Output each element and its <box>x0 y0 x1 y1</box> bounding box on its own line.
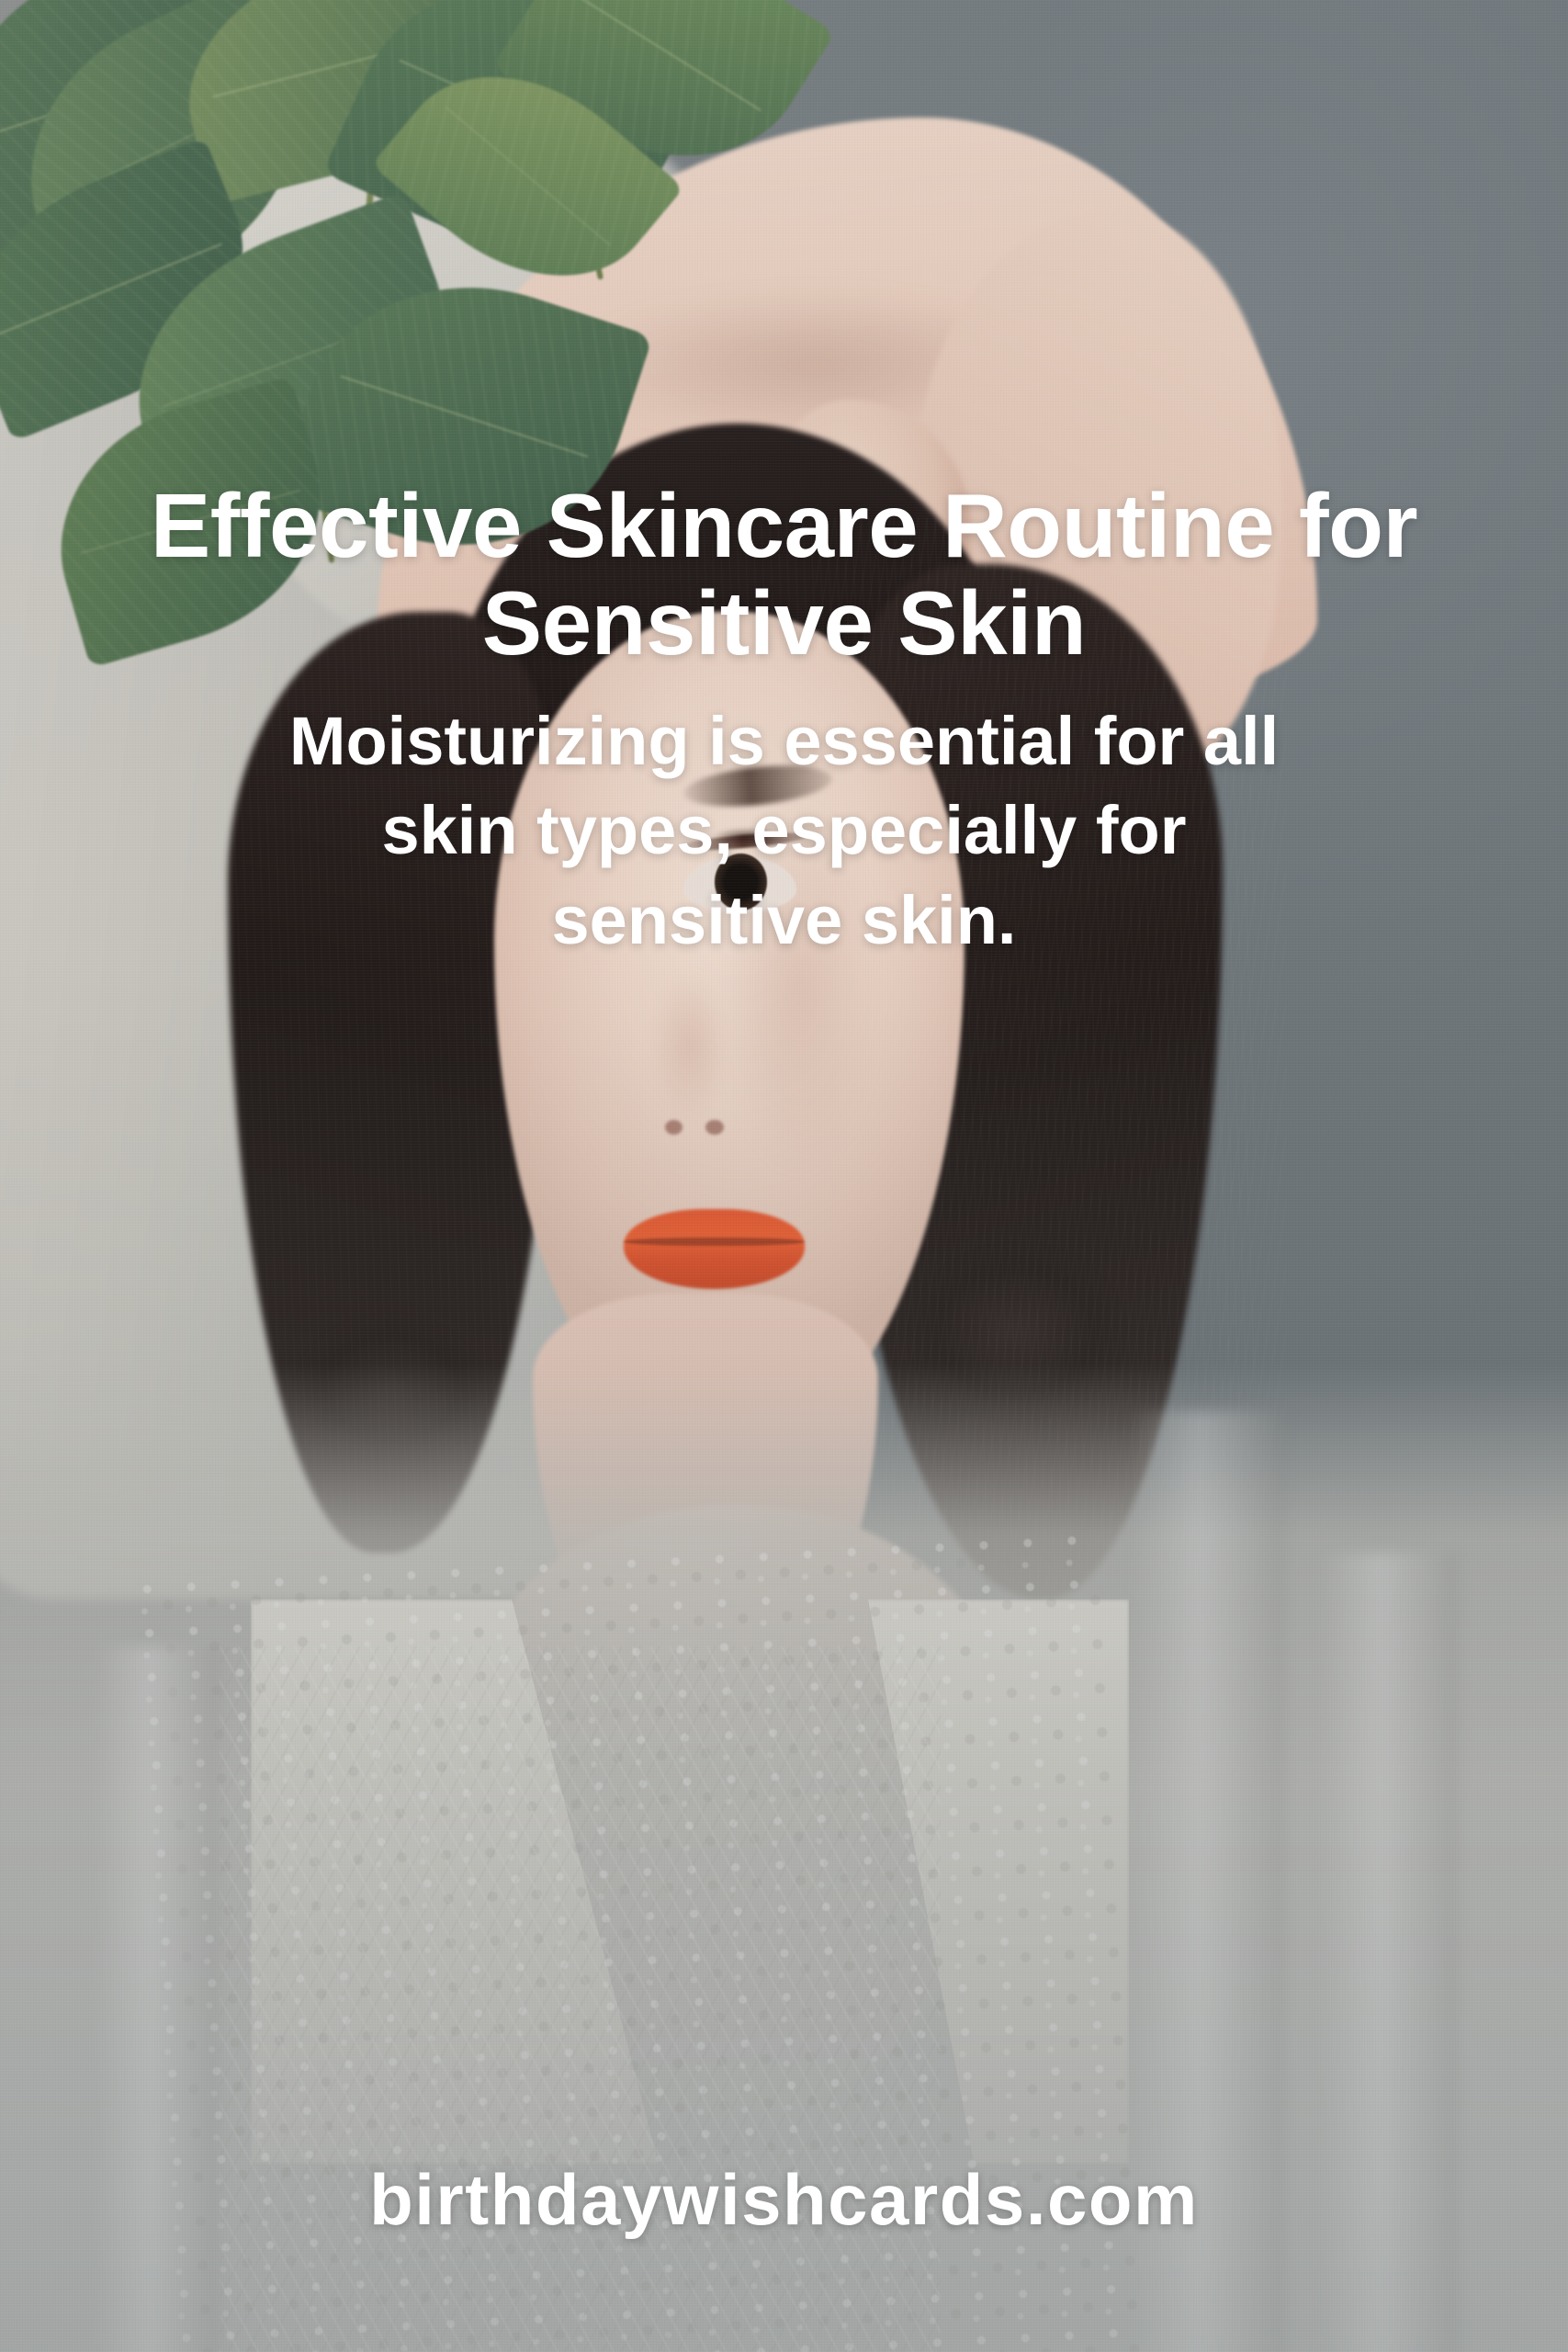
text-overlay: Effective Skincare Routine for Sensitive… <box>0 478 1568 966</box>
lips <box>624 1209 804 1289</box>
page-title: Effective Skincare Routine for Sensitive… <box>55 478 1513 673</box>
lip-parting-line <box>624 1238 804 1247</box>
pinterest-card: Effective Skincare Routine for Sensitive… <box>0 0 1568 2352</box>
background-photo <box>0 0 1568 2352</box>
website-watermark[interactable]: birthdaywishcards.com <box>0 2158 1568 2242</box>
lace-texture-overlay <box>220 1646 941 2352</box>
fabric-fold-3 <box>94 1646 220 2352</box>
nose-shadow <box>635 941 744 1152</box>
page-subtitle: Moisturizing is essential for all skin t… <box>243 696 1326 966</box>
nostril-right <box>705 1120 724 1136</box>
